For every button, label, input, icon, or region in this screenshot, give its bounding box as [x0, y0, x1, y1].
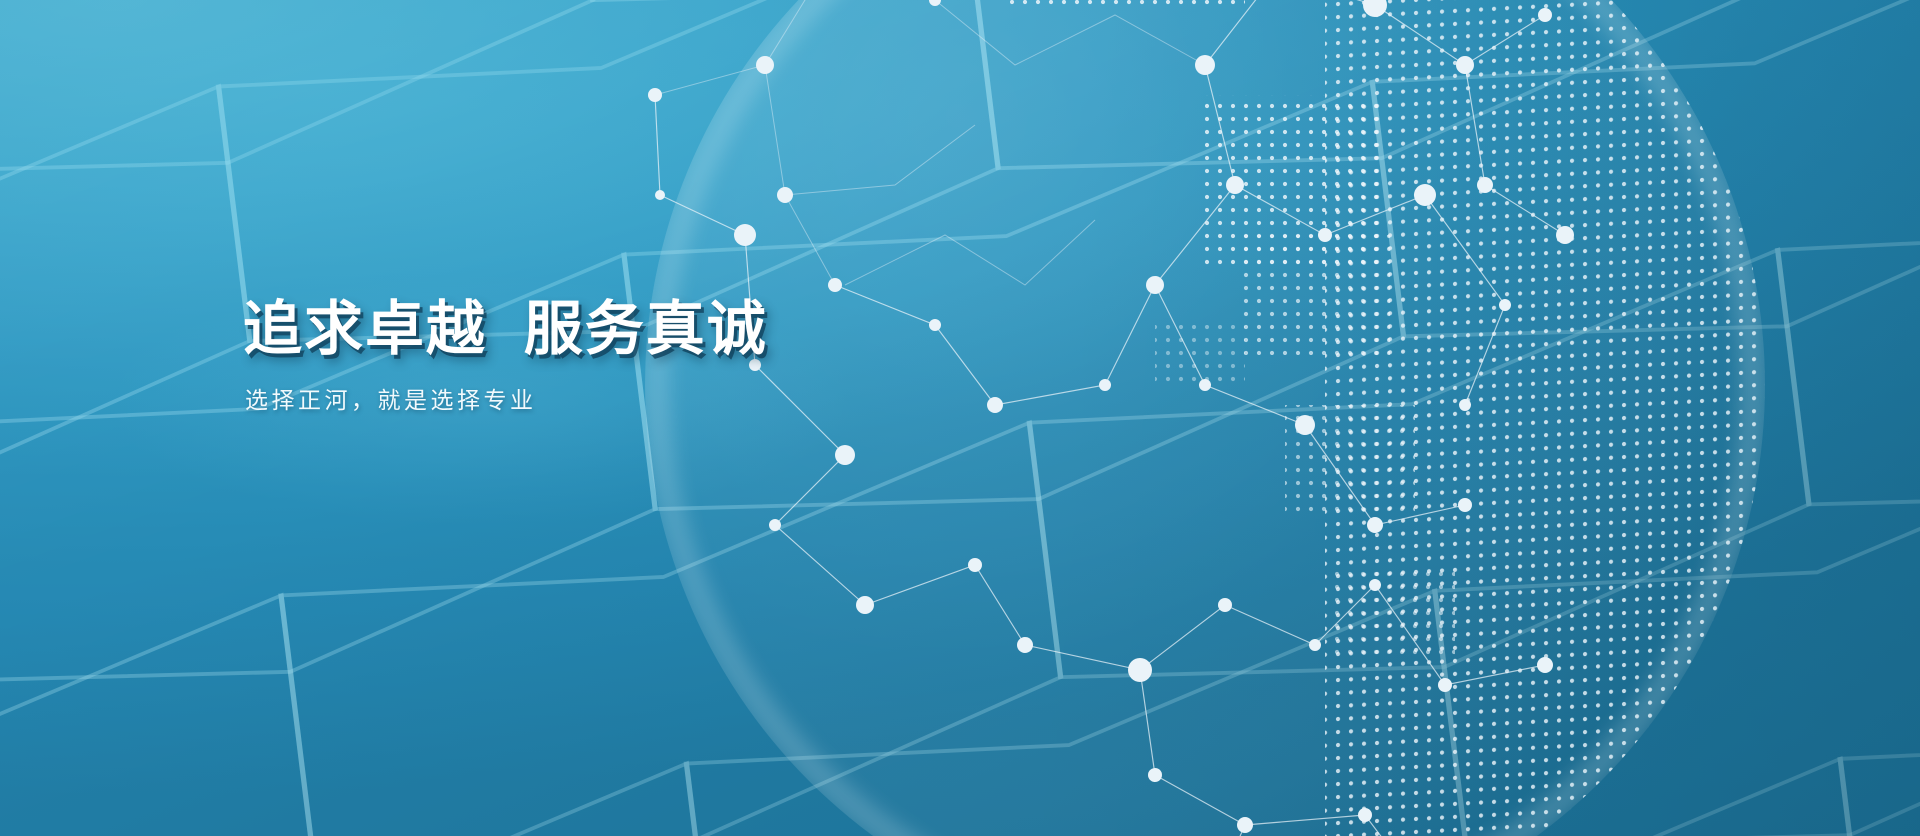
background-vignette	[0, 0, 1920, 836]
page-subtitle: 选择正河，就是选择专业	[245, 383, 1023, 418]
hero-banner: 追求卓越 服务真诚 选择正河，就是选择专业	[0, 0, 1920, 836]
page-title: 追求卓越 服务真诚	[243, 296, 1023, 363]
hero-copy: 追求卓越 服务真诚 选择正河，就是选择专业	[243, 296, 1023, 418]
